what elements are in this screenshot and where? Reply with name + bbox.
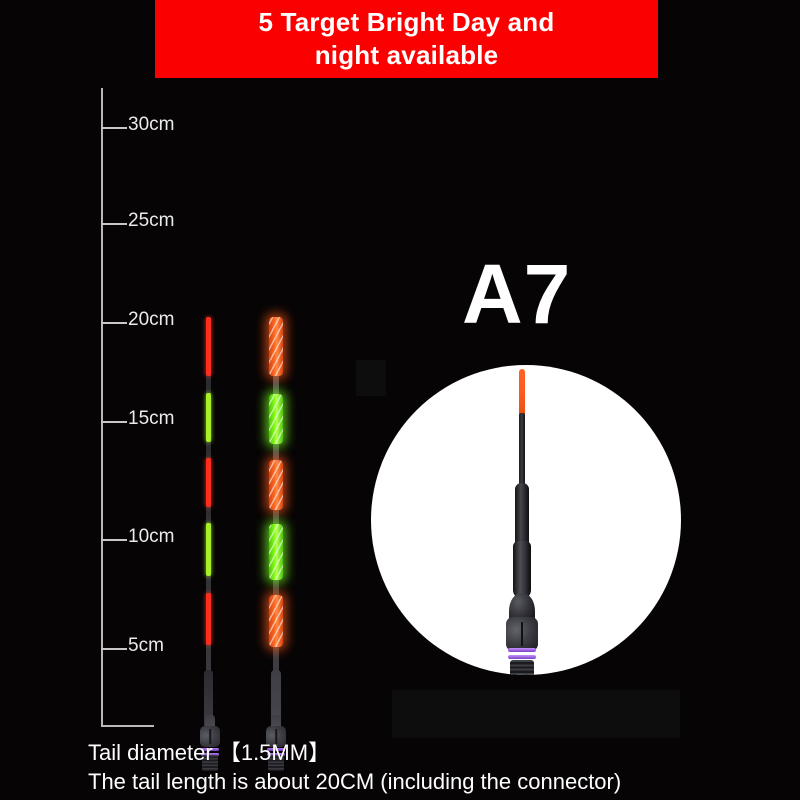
background-plate-left	[356, 360, 386, 396]
glow-band-orange-1	[269, 317, 283, 376]
detail-closeup-circle	[371, 365, 681, 675]
glow-band-orange-2	[269, 460, 283, 510]
spec-line-tail-diameter: Tail diameter 【1.5MM】	[88, 738, 621, 767]
detail-taper	[515, 483, 529, 545]
headline-text: 5 Target Bright Day and night available	[253, 6, 561, 73]
tick-label: 10cm	[128, 526, 174, 548]
background-plate-bottom	[392, 690, 680, 738]
detail-connector-ring-top	[508, 648, 536, 652]
detail-orange-tip	[519, 369, 525, 414]
headline-banner: 5 Target Bright Day and night available	[155, 0, 658, 78]
tick-mark	[101, 223, 127, 225]
ruler-axis-line	[101, 88, 103, 727]
detail-connector-ring-bottom	[508, 655, 536, 659]
spec-caption: Tail diameter 【1.5MM】 The tail length is…	[88, 738, 621, 796]
product-infographic: 5 Target Bright Day and night available …	[0, 0, 800, 800]
tick-label: 25cm	[128, 210, 174, 232]
tick-label: 30cm	[128, 114, 174, 136]
detail-grip	[513, 541, 531, 599]
float-illuminated	[262, 310, 290, 740]
tip-segment-red-3	[206, 593, 211, 645]
tip-segment-green-1	[206, 393, 211, 442]
detail-connector-hub	[506, 617, 538, 651]
glow-band-orange-3	[269, 595, 283, 647]
detail-antenna	[494, 365, 550, 675]
float-thin-marked	[200, 310, 220, 740]
model-name-label: A7	[462, 252, 571, 336]
tip-segment-red-1	[206, 317, 211, 376]
detail-shaft	[519, 413, 525, 485]
tick-mark	[101, 127, 127, 129]
tick-mark	[101, 539, 127, 541]
tick-label: 15cm	[128, 408, 174, 430]
detail-connector-thread	[510, 660, 534, 675]
glow-band-green-2	[269, 524, 283, 580]
tick-mark	[101, 421, 127, 423]
ruler-base-line	[101, 725, 154, 727]
glow-band-green-1	[269, 394, 283, 444]
tip-segment-red-2	[206, 458, 211, 507]
tick-mark	[101, 322, 127, 324]
tick-label: 5cm	[128, 635, 164, 657]
tip-segment-green-2	[206, 523, 211, 576]
spec-line-tail-length: The tail length is about 20CM (including…	[88, 767, 621, 796]
tick-mark	[101, 648, 127, 650]
tick-label: 20cm	[128, 309, 174, 331]
